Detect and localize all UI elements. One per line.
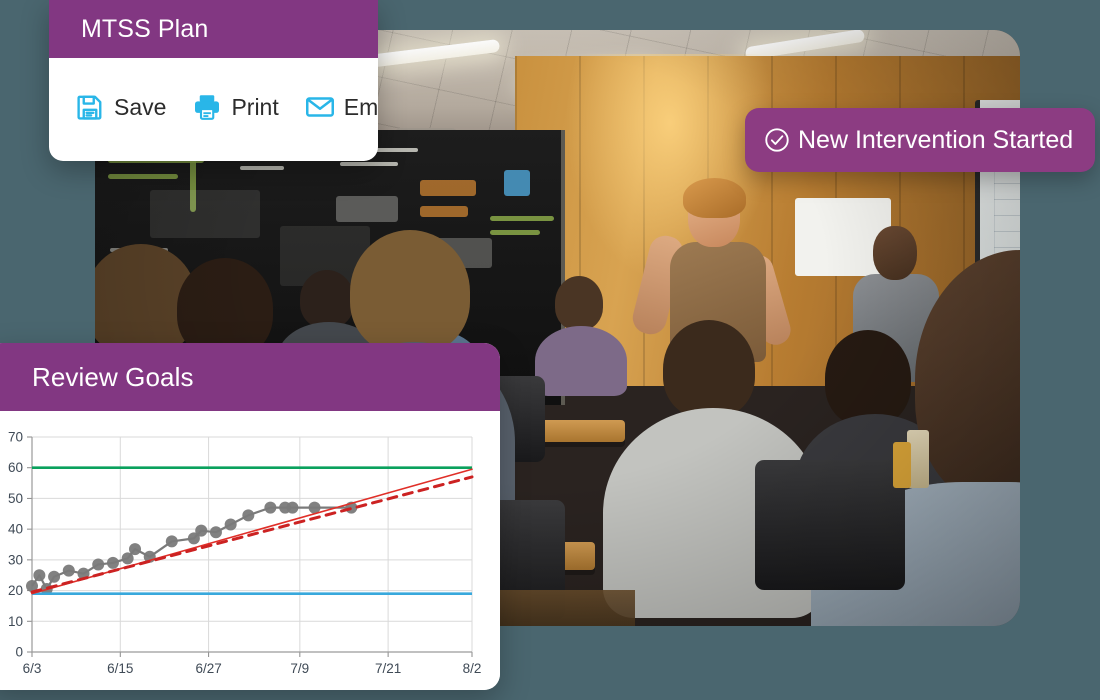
student-head xyxy=(555,276,603,330)
y-axis-tick-label: 10 xyxy=(8,614,23,629)
chair xyxy=(755,460,905,590)
teacher-hair xyxy=(683,178,746,218)
data-point[interactable] xyxy=(210,526,222,538)
mtss-plan-card: MTSS Plan Save xyxy=(49,0,378,161)
container xyxy=(893,442,911,488)
y-axis-tick-label: 20 xyxy=(8,583,23,598)
student-shoulders xyxy=(535,326,627,396)
data-point[interactable] xyxy=(264,502,276,514)
data-point[interactable] xyxy=(63,565,75,577)
envelope-icon xyxy=(305,92,335,122)
email-label: Email xyxy=(344,94,378,121)
print-label: Print xyxy=(231,94,278,121)
standing-student-head xyxy=(873,226,917,280)
mtss-plan-header: MTSS Plan xyxy=(49,0,378,58)
status-badge[interactable]: New Intervention Started xyxy=(745,108,1095,172)
student-head xyxy=(300,270,354,328)
data-point[interactable] xyxy=(286,502,298,514)
data-point[interactable] xyxy=(225,519,237,531)
y-axis-tick-label: 50 xyxy=(8,491,23,506)
status-badge-label: New Intervention Started xyxy=(798,126,1073,155)
trendline-line xyxy=(32,477,472,592)
x-axis-tick-label: 7/21 xyxy=(375,661,401,676)
y-axis-tick-label: 40 xyxy=(8,522,23,537)
student-head xyxy=(350,230,470,354)
mtss-plan-title: MTSS Plan xyxy=(81,15,208,44)
printer-icon xyxy=(192,92,222,122)
review-goals-header: Review Goals xyxy=(0,343,500,411)
review-goals-card: Review Goals 0102030405060706/36/156/277… xyxy=(0,343,500,690)
data-point[interactable] xyxy=(166,535,178,547)
x-axis-tick-label: 6/3 xyxy=(23,661,42,676)
screen-root: MTSS Plan Save xyxy=(0,0,1100,700)
check-circle-icon xyxy=(763,126,791,154)
data-point[interactable] xyxy=(92,558,104,570)
student-head xyxy=(825,330,911,426)
data-point[interactable] xyxy=(242,509,254,521)
progress-chart: 0102030405060706/36/156/277/97/218/2 xyxy=(0,411,500,690)
mtss-plan-actions: Save Print xyxy=(49,58,378,122)
data-point[interactable] xyxy=(195,525,207,537)
student-head xyxy=(663,320,755,418)
y-axis-tick-label: 30 xyxy=(8,552,23,567)
email-button[interactable]: Email xyxy=(305,92,378,122)
review-goals-title: Review Goals xyxy=(32,362,194,393)
y-axis-tick-label: 0 xyxy=(15,645,23,660)
y-axis-tick-label: 60 xyxy=(8,460,23,475)
print-button[interactable]: Print xyxy=(192,92,278,122)
x-axis-tick-label: 6/27 xyxy=(195,661,221,676)
data-point[interactable] xyxy=(33,569,45,581)
x-axis-tick-label: 7/9 xyxy=(290,661,309,676)
data-point[interactable] xyxy=(129,543,141,555)
data-point[interactable] xyxy=(48,571,60,583)
save-button[interactable]: Save xyxy=(75,92,166,122)
save-floppy-icon xyxy=(75,92,105,122)
x-axis-tick-label: 8/2 xyxy=(463,661,482,676)
y-axis-tick-label: 70 xyxy=(8,430,23,445)
save-label: Save xyxy=(114,94,166,121)
data-point[interactable] xyxy=(107,557,119,569)
x-axis-tick-label: 6/15 xyxy=(107,661,133,676)
progress-chart-svg: 0102030405060706/36/156/277/97/218/2 xyxy=(0,411,500,690)
